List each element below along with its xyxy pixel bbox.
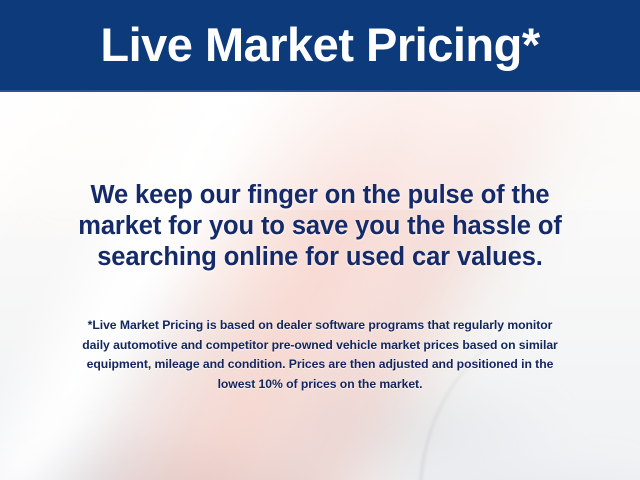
- disclaimer-line-2: daily automotive and competitor pre-owne…: [0, 336, 640, 356]
- headline-line-2: market for you to save you the hassle of: [0, 211, 640, 242]
- headline-line-3: searching online for used car values.: [0, 242, 640, 273]
- disclaimer-line-3: equipment, mileage and condition. Prices…: [0, 355, 640, 375]
- page-title: Live Market Pricing*: [100, 21, 539, 68]
- headline-line-1: We keep our finger on the pulse of the: [0, 180, 640, 211]
- headline-block: We keep our finger on the pulse of the m…: [0, 180, 640, 273]
- header-banner: Live Market Pricing*: [0, 0, 640, 92]
- disclaimer-line-1: *Live Market Pricing is based on dealer …: [0, 316, 640, 336]
- disclaimer-block: *Live Market Pricing is based on dealer …: [0, 316, 640, 394]
- disclaimer-line-4: lowest 10% of prices on the market.: [0, 375, 640, 395]
- live-market-pricing-promo-card: Live Market Pricing* We keep our finger …: [0, 0, 640, 480]
